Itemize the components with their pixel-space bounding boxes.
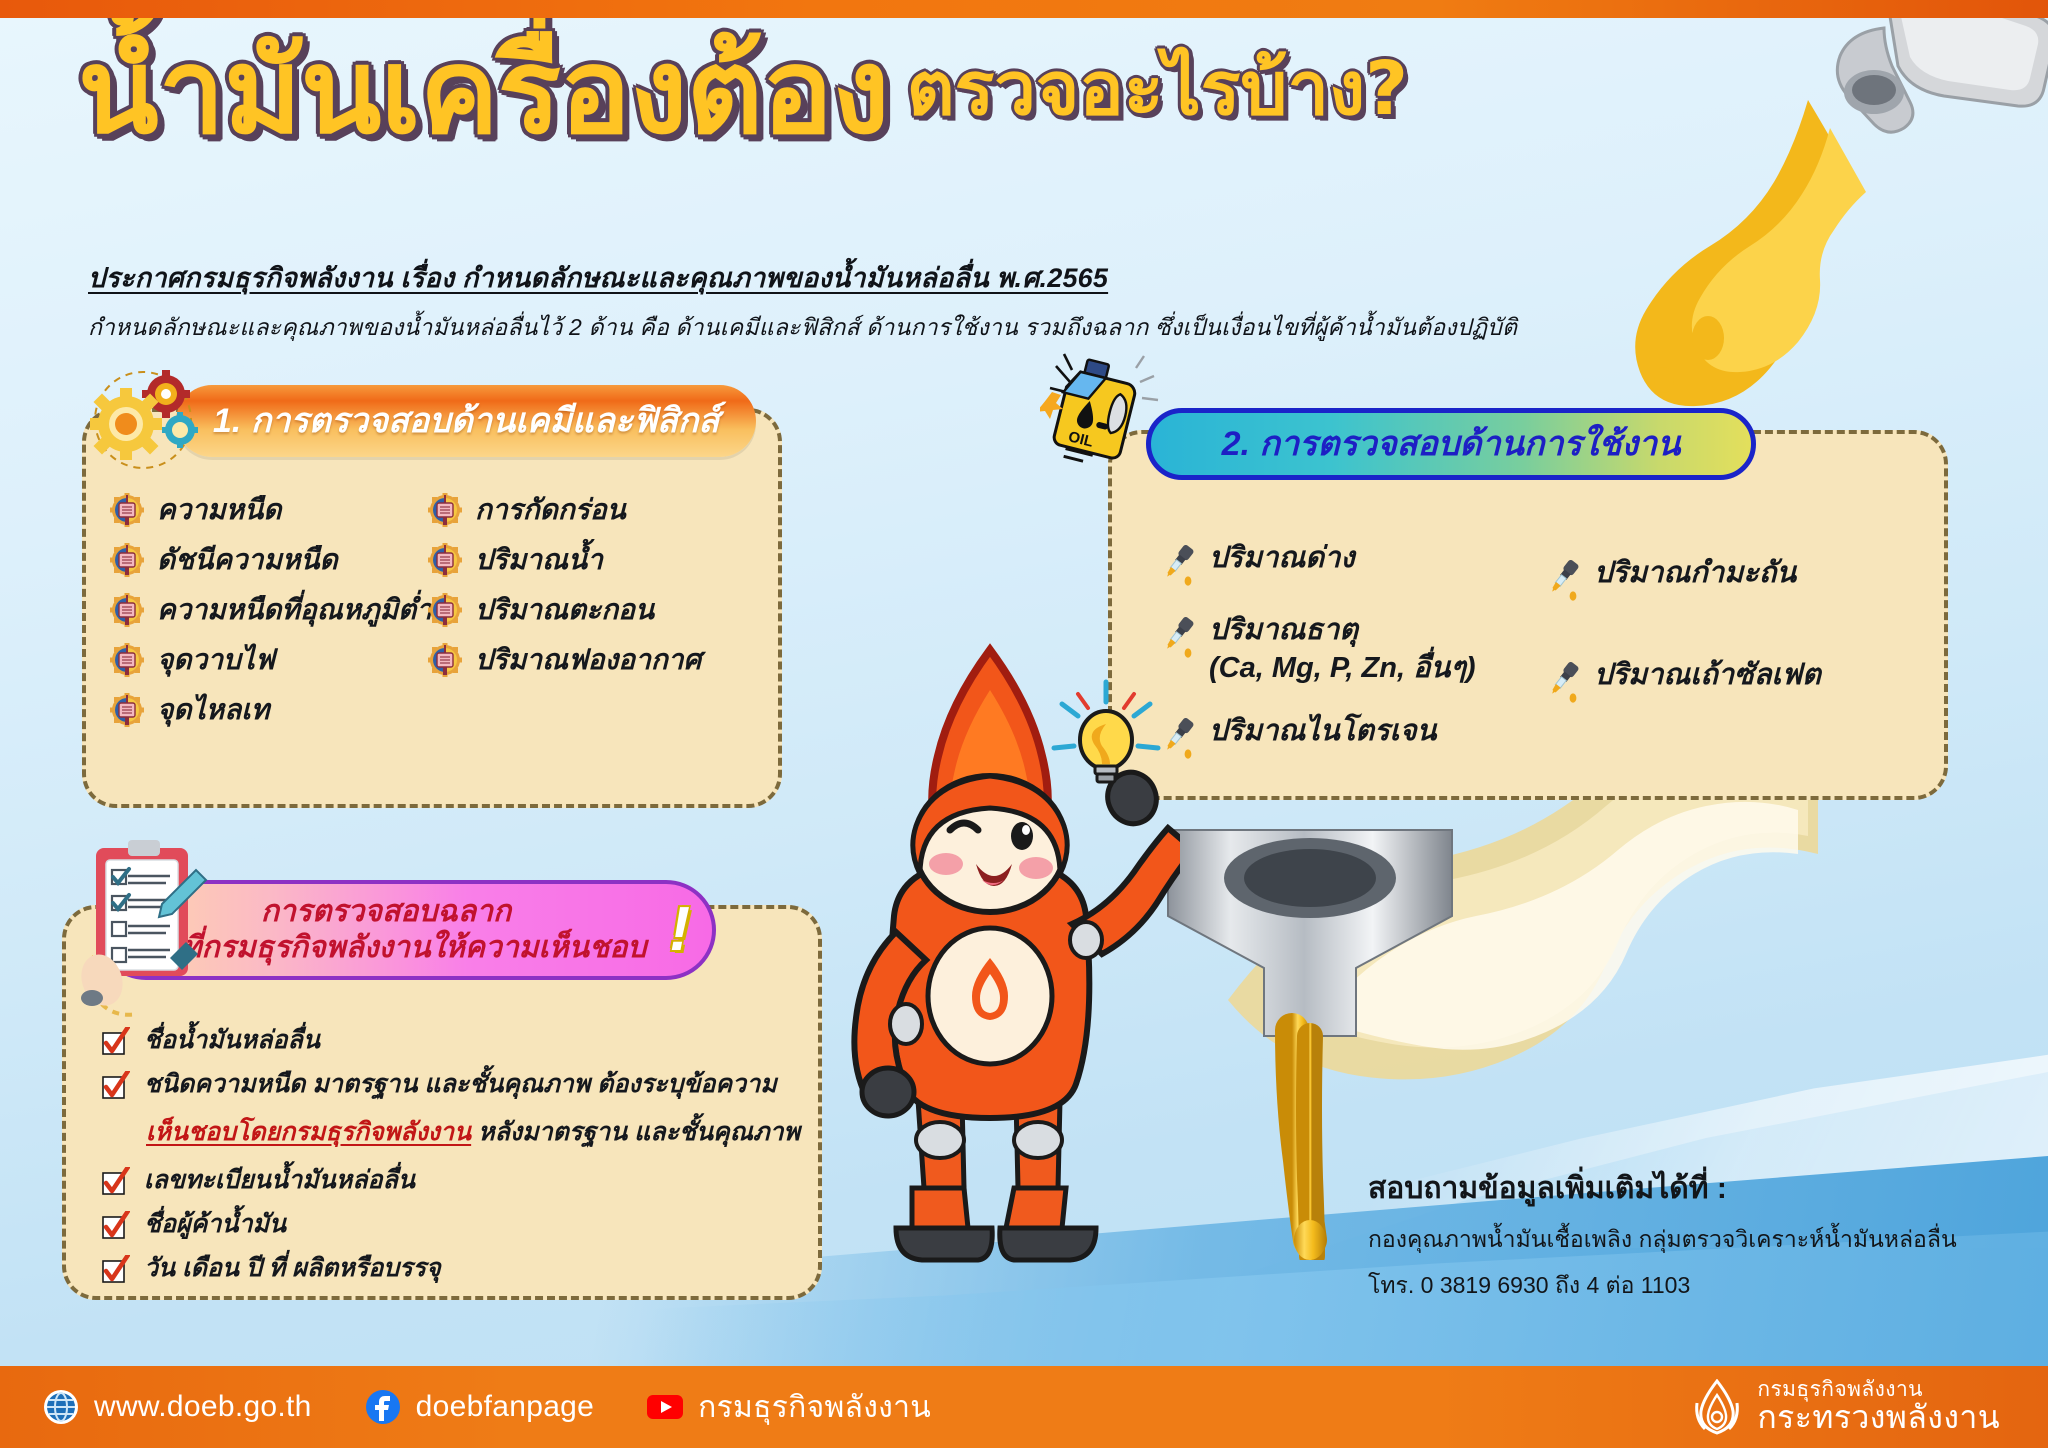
contact-phone: โทร. 0 3819 6930 ถึง 4 ต่อ 1103: [1368, 1268, 1957, 1304]
flame-logo-icon: [1691, 1379, 1743, 1435]
title-main-text: น้ำมันเครื่องต้อง: [78, 22, 889, 161]
list-item-label: ความหนืดที่อุณหภูมิต่ำ: [157, 588, 432, 632]
list-item: จุดไหลเท: [110, 685, 410, 735]
list-item: ปริมาณด่าง: [1155, 540, 1575, 586]
poster-title: น้ำมันเครื่องต้องตรวจอะไรบ้าง?: [78, 22, 1558, 197]
list-item-label: ชนิดความหนืด มาตรฐาน และชั้นคุณภาพ ต้องร…: [144, 1068, 777, 1101]
list-item: ความหนืด: [110, 485, 410, 535]
list-item-label: ชื่อน้ำมันหล่อลื่น: [144, 1024, 320, 1057]
list-item-label: ดัชนีความหนืด: [157, 538, 338, 582]
footer-org-ministry: กระทรวงพลังงาน: [1757, 1401, 2000, 1435]
label-checklist-note: เห็นชอบโดยกรมธุรกิจพลังงาน หลังมาตรฐาน แ…: [146, 1112, 800, 1152]
list-item-label: ปริมาณตะกอน: [475, 588, 654, 632]
svg-text:OIL: OIL: [1067, 428, 1095, 451]
footer-website-label: www.doeb.go.th: [94, 1390, 312, 1424]
pipette-dropper-icon: [1540, 659, 1584, 703]
footer-bar: www.doeb.go.th doebfanpage กรมธุรกิจพลัง…: [0, 1366, 2048, 1448]
list-item: ปริมาณกำมะถัน: [1540, 555, 1940, 601]
label-checklist: ชื่อน้ำมันหล่อลื่น ชนิดความหนืด มาตรฐาน …: [100, 1024, 800, 1296]
gear-badge-icon: [110, 493, 144, 527]
title-sub-text: ตรวจอะไรบ้าง?: [907, 29, 1408, 161]
list-item: เลขทะเบียนน้ำมันหล่อลื่น: [100, 1164, 800, 1197]
label-note-rest: หลังมาตรฐาน และชั้นคุณภาพ: [471, 1118, 800, 1146]
chemical-physical-heading-text: 1. การตรวจสอบด้านเคมีและฟิสิกส์: [213, 401, 719, 442]
footer-org-text: กรมธุรกิจพลังงาน กระทรวงพลังงาน: [1757, 1379, 2000, 1435]
pipette-dropper-icon: [1155, 542, 1199, 586]
list-item-label: ปริมาณเถ้าซัลเฟต: [1594, 657, 1821, 695]
pipette-dropper-icon: [1540, 557, 1584, 601]
gear-badge-icon: [428, 643, 462, 677]
chemical-physical-heading: 1. การตรวจสอบด้านเคมีและฟิสิกส์: [176, 385, 756, 457]
list-item-label: ความหนืด: [157, 488, 281, 532]
list-item: การกัดกร่อน: [428, 485, 728, 535]
usage-heading-text: 2. การตรวจสอบด้านการใช้งาน: [1222, 424, 1681, 465]
gear-badge-icon: [110, 693, 144, 727]
footer-links: www.doeb.go.th doebfanpage กรมธุรกิจพลัง…: [0, 1384, 931, 1431]
checkmark-box-icon: [100, 1167, 130, 1197]
footer-org-department: กรมธุรกิจพลังงาน: [1757, 1379, 2000, 1401]
usage-list-left: ปริมาณด่าง ปริมาณธาตุ (Ca, Mg, P, Zn, อื…: [1155, 540, 1575, 785]
footer-facebook-label: doebfanpage: [416, 1390, 594, 1424]
gear-badge-icon: [110, 643, 144, 677]
list-item: ชนิดความหนืด มาตรฐาน และชั้นคุณภาพ ต้องร…: [100, 1068, 800, 1101]
list-item-label: ปริมาณฟองอากาศ: [475, 638, 701, 682]
list-item: วัน เดือน ปี ที่ ผลิตหรือบรรจุ: [100, 1252, 800, 1285]
list-item-empty: [428, 685, 728, 735]
checkmark-box-icon: [100, 1255, 130, 1285]
contact-block: สอบถามข้อมูลเพิ่มเติมได้ที่ : กองคุณภาพน…: [1368, 1165, 1957, 1304]
footer-youtube[interactable]: กรมธุรกิจพลังงาน: [646, 1384, 931, 1431]
pipette-dropper-icon: [1155, 614, 1199, 658]
list-item-label: การกัดกร่อน: [475, 488, 626, 532]
checkmark-box-icon: [100, 1071, 130, 1101]
infographic-poster: น้ำมันเครื่องต้องตรวจอะไรบ้าง? ประกาศกรม…: [0, 0, 2048, 1448]
list-item-label: เลขทะเบียนน้ำมันหล่อลื่น: [144, 1164, 415, 1197]
list-item: ปริมาณฟองอากาศ: [428, 635, 728, 685]
usage-heading: 2. การตรวจสอบด้านการใช้งาน: [1146, 408, 1756, 480]
label-heading-line-2: ตามที่กรมธุรกิจพลังงานให้ความเห็นชอบ: [126, 930, 647, 966]
list-item-label: จุดไหลเท: [157, 688, 269, 732]
list-item-label: ชื่อผู้ค้าน้ำมัน: [144, 1208, 286, 1241]
list-item: ปริมาณธาตุ (Ca, Mg, P, Zn, อื่นๆ): [1155, 612, 1575, 687]
gear-badge-icon: [428, 493, 462, 527]
gear-badge-icon: [110, 593, 144, 627]
exclamation-mark: !: [669, 899, 690, 961]
list-item: ความหนืดที่อุณหภูมิต่ำ: [110, 585, 410, 635]
checkmark-box-icon: [100, 1027, 130, 1057]
list-item-label: วัน เดือน ปี ที่ ผลิตหรือบรรจุ: [144, 1252, 441, 1285]
contact-department: กองคุณภาพน้ำมันเชื้อเพลิง กลุ่มตรวจวิเคร…: [1368, 1222, 1957, 1258]
list-item-label: ปริมาณกำมะถัน: [1594, 555, 1796, 593]
label-note-highlight: เห็นชอบโดยกรมธุรกิจพลังงาน: [146, 1118, 471, 1146]
checkmark-box-icon: [100, 1211, 130, 1241]
list-item: ชื่อผู้ค้าน้ำมัน: [100, 1208, 800, 1241]
list-item: ดัชนีความหนืด: [110, 535, 410, 585]
oil-jug-icon: [1588, 0, 2048, 322]
footer-facebook[interactable]: doebfanpage: [364, 1388, 594, 1426]
gear-badge-icon: [428, 593, 462, 627]
list-item: ปริมาณเถ้าซัลเฟต: [1540, 657, 1940, 703]
list-item: ปริมาณไนโตรเจน: [1155, 713, 1575, 759]
gear-badge-icon: [428, 543, 462, 577]
usage-list-right: ปริมาณกำมะถัน ปริมาณเถ้าซัลเฟต: [1540, 555, 1940, 729]
top-accent-bar: [0, 0, 2048, 18]
chemical-physical-list: ความหนืด การกัดกร่อน: [110, 485, 750, 735]
label-heading-line-1: การตรวจสอบฉลาก: [261, 894, 511, 930]
list-item-label: ปริมาณไนโตรเจน: [1209, 713, 1436, 751]
oil-splash-decoration: [1568, 80, 1988, 410]
list-item: ปริมาณตะกอน: [428, 585, 728, 635]
contact-title: สอบถามข้อมูลเพิ่มเติมได้ที่ :: [1368, 1165, 1957, 1212]
facebook-icon: [364, 1388, 402, 1426]
footer-organization: กรมธุรกิจพลังงาน กระทรวงพลังงาน: [1691, 1379, 2048, 1435]
list-item-label: จุดวาบไฟ: [157, 638, 275, 682]
youtube-icon: [646, 1388, 684, 1426]
gear-badge-icon: [110, 543, 144, 577]
label-check-heading: การตรวจสอบฉลาก ตามที่กรมธุรกิจพลังงานให้…: [96, 880, 716, 980]
list-item-label: ปริมาณด่าง: [1209, 540, 1355, 578]
globe-icon: [42, 1388, 80, 1426]
announcement-line-2: กำหนดลักษณะและคุณภาพของน้ำมันหล่อลื่นไว้…: [88, 310, 1517, 346]
pipette-dropper-icon: [1155, 715, 1199, 759]
announcement-line-1: ประกาศกรมธุรกิจพลังงาน เรื่อง กำหนดลักษณ…: [88, 256, 1517, 299]
list-item-label: ปริมาณน้ำ: [475, 538, 603, 582]
announcement-block: ประกาศกรมธุรกิจพลังงาน เรื่อง กำหนดลักษณ…: [88, 256, 1517, 346]
footer-youtube-label: กรมธุรกิจพลังงาน: [698, 1384, 931, 1431]
list-item: ชื่อน้ำมันหล่อลื่น: [100, 1024, 800, 1057]
list-item: จุดวาบไฟ: [110, 635, 410, 685]
list-item-label: ปริมาณธาตุ (Ca, Mg, P, Zn, อื่นๆ): [1209, 612, 1476, 687]
footer-website[interactable]: www.doeb.go.th: [42, 1388, 312, 1426]
list-item: ปริมาณน้ำ: [428, 535, 728, 585]
